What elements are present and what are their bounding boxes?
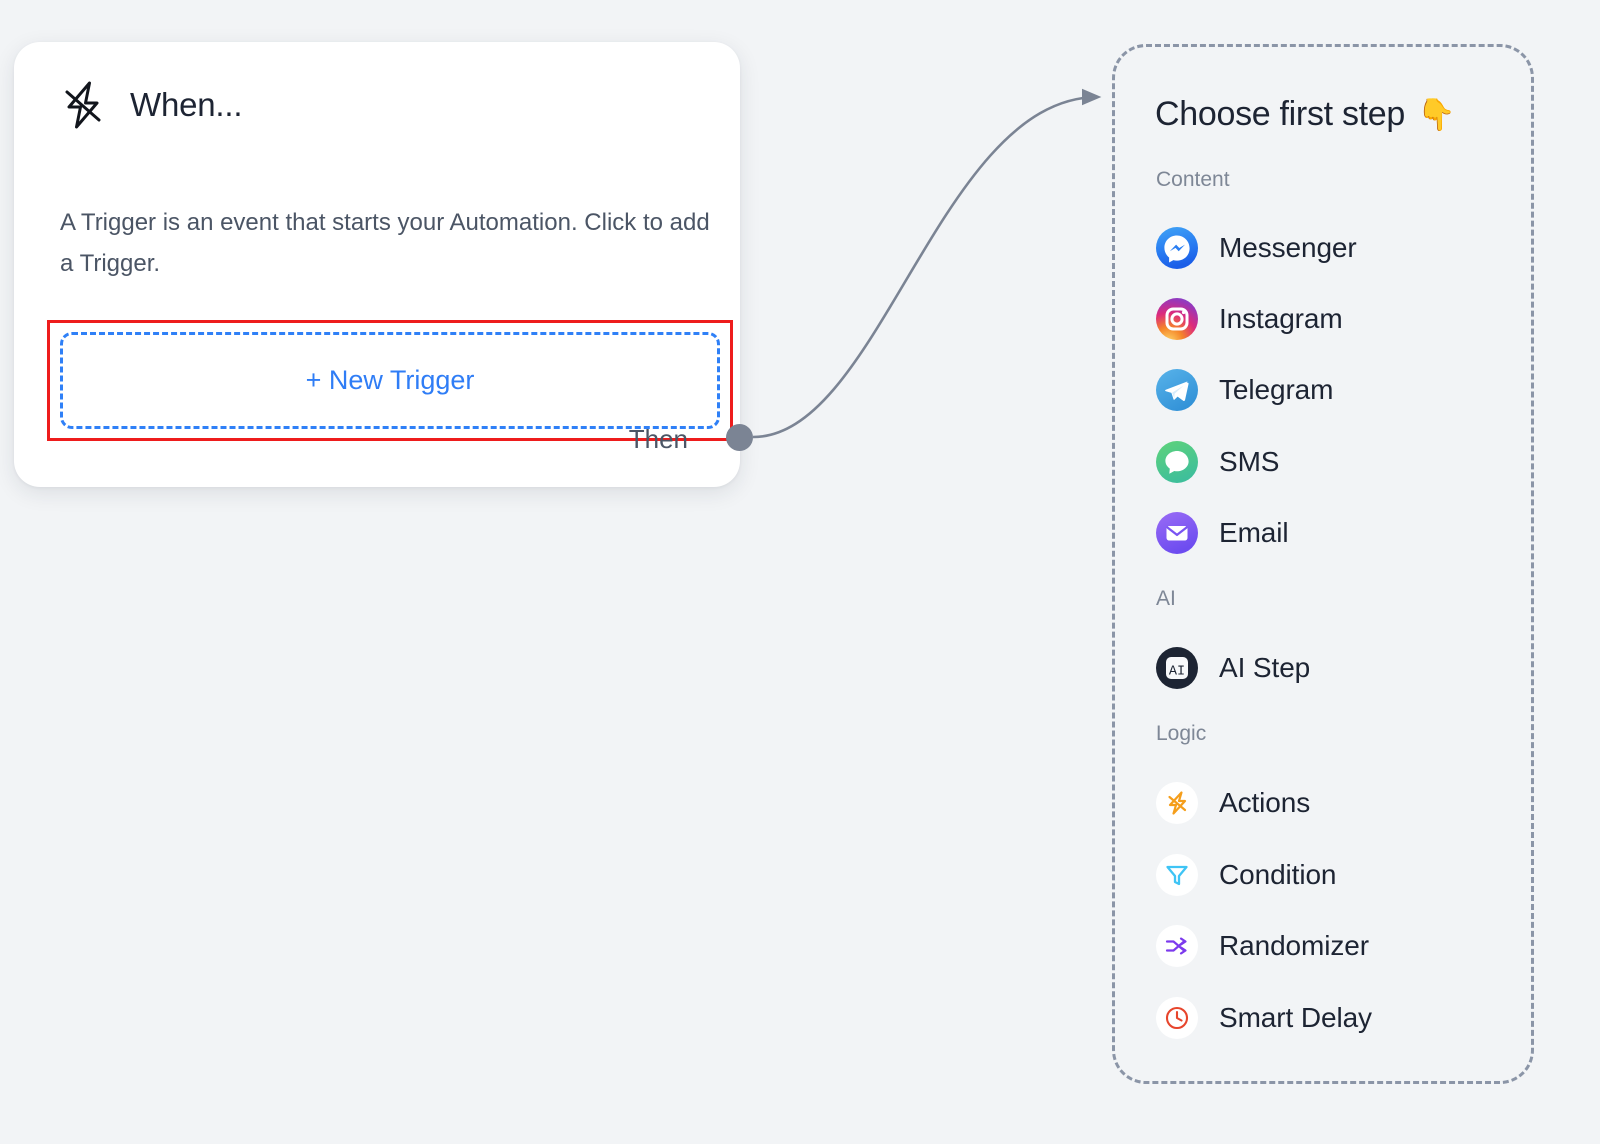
svg-text:AI: AI	[1169, 664, 1185, 679]
condition-funnel-icon	[1155, 853, 1199, 897]
trigger-card: When... A Trigger is an event that start…	[14, 42, 740, 487]
step-item-messenger[interactable]: Messenger	[1155, 225, 1505, 271]
panel-title: Choose first step 👇	[1155, 95, 1455, 134]
step-item-label: Actions	[1219, 787, 1310, 819]
panel-title-text: Choose first step	[1155, 95, 1405, 134]
step-item-actions[interactable]: Actions	[1155, 780, 1505, 826]
automation-builder-canvas: When... A Trigger is an event that start…	[0, 0, 1600, 1144]
step-item-label: Instagram	[1219, 303, 1343, 335]
step-item-sms[interactable]: SMS	[1155, 439, 1505, 485]
pointing-down-icon: 👇	[1417, 96, 1455, 133]
telegram-icon	[1155, 368, 1199, 412]
randomizer-arrows-icon	[1155, 924, 1199, 968]
sms-icon	[1155, 440, 1199, 484]
step-item-label: SMS	[1219, 446, 1279, 478]
then-connector-handle[interactable]	[726, 424, 753, 451]
step-item-email[interactable]: Email	[1155, 510, 1505, 556]
step-item-label: Randomizer	[1219, 930, 1369, 962]
choose-first-step-panel: Choose first step 👇 Content	[1112, 44, 1534, 1084]
ai-step-icon: AI	[1155, 646, 1199, 690]
section-label-ai: AI	[1156, 587, 1176, 611]
step-item-instagram[interactable]: Instagram	[1155, 296, 1505, 342]
clock-icon	[1155, 996, 1199, 1040]
section-label-logic: Logic	[1156, 722, 1206, 746]
messenger-icon	[1155, 226, 1199, 270]
step-item-telegram[interactable]: Telegram	[1155, 367, 1505, 413]
trigger-card-description: A Trigger is an event that starts your A…	[60, 202, 710, 284]
then-label: Then	[629, 424, 688, 455]
step-item-ai-step[interactable]: AI AI Step	[1155, 645, 1505, 691]
step-item-label: Email	[1219, 517, 1289, 549]
trigger-card-header: When...	[60, 80, 242, 130]
step-item-condition[interactable]: Condition	[1155, 852, 1505, 898]
lightning-bolt-icon	[60, 80, 106, 130]
new-trigger-button[interactable]: + New Trigger	[60, 332, 720, 429]
step-item-smart-delay[interactable]: Smart Delay	[1155, 995, 1505, 1041]
section-label-content: Content	[1156, 168, 1230, 192]
step-item-label: Messenger	[1219, 232, 1357, 264]
step-item-label: AI Step	[1219, 652, 1310, 684]
instagram-icon	[1155, 297, 1199, 341]
step-item-label: Smart Delay	[1219, 1002, 1372, 1034]
step-item-randomizer[interactable]: Randomizer	[1155, 923, 1505, 969]
actions-bolt-icon	[1155, 781, 1199, 825]
step-item-label: Telegram	[1219, 374, 1333, 406]
email-icon	[1155, 511, 1199, 555]
step-item-label: Condition	[1219, 859, 1336, 891]
new-trigger-button-label: + New Trigger	[306, 365, 475, 396]
trigger-card-title: When...	[130, 86, 242, 124]
